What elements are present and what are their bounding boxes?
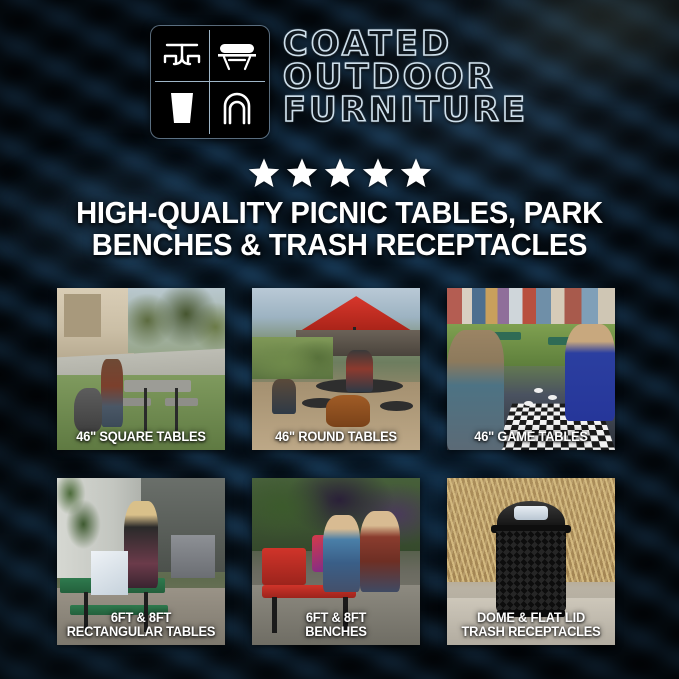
product-tile-round-tables[interactable]: 46" ROUND TABLES: [252, 288, 420, 450]
brand-logo: COATED OUTDOOR FURNITURE: [0, 26, 679, 138]
picnic-table-end-view-icon: [155, 30, 210, 82]
product-photo: [252, 288, 420, 450]
headline-line-2: BENCHES & TRASH RECEPTACLES: [20, 229, 658, 261]
product-grid: 46" SQUARE TABLES 46" ROUND TABLES: [57, 288, 619, 645]
promo-banner: COATED OUTDOOR FURNITURE HIGH-QUALITY PI…: [0, 0, 679, 679]
headline: HIGH-QUALITY PICNIC TABLES, PARK BENCHES…: [20, 197, 658, 261]
product-caption: 6FT & 8FT BENCHES: [256, 611, 416, 639]
banner-content: COATED OUTDOOR FURNITURE HIGH-QUALITY PI…: [0, 0, 679, 679]
star-icon: [286, 157, 318, 189]
product-caption: 6FT & 8FT RECTANGULAR TABLES: [61, 611, 221, 639]
logo-wordmark: COATED OUTDOOR FURNITURE: [283, 26, 528, 127]
arch-bike-rack-icon: [210, 82, 265, 134]
headline-line-1: HIGH-QUALITY PICNIC TABLES, PARK: [76, 195, 603, 230]
trash-receptacle-icon: [155, 82, 210, 134]
bench-side-view-icon: [210, 30, 265, 82]
product-caption: 46" ROUND TABLES: [256, 430, 416, 444]
star-icon: [362, 157, 394, 189]
product-tile-square-tables[interactable]: 46" SQUARE TABLES: [57, 288, 225, 450]
star-icon: [324, 157, 356, 189]
product-caption: DOME & FLAT LID TRASH RECEPTACLES: [451, 611, 611, 639]
product-photo: [447, 288, 615, 450]
star-icon: [400, 157, 432, 189]
product-tile-game-tables[interactable]: 46" GAME TABLES: [447, 288, 615, 450]
logo-word-line3: FURNITURE: [283, 94, 528, 127]
product-tile-rectangular-tables[interactable]: 6FT & 8FT RECTANGULAR TABLES: [57, 478, 225, 645]
product-caption: 46" GAME TABLES: [451, 430, 611, 444]
product-caption: 46" SQUARE TABLES: [61, 430, 221, 444]
product-tile-trash-receptacles[interactable]: DOME & FLAT LID TRASH RECEPTACLES: [447, 478, 615, 645]
star-rating: [0, 157, 679, 189]
product-photo: [57, 288, 225, 450]
product-tile-benches[interactable]: 6FT & 8FT BENCHES: [252, 478, 420, 645]
logo-icon-box: [151, 26, 269, 138]
logo-word-line2: OUTDOOR: [283, 61, 528, 94]
star-icon: [248, 157, 280, 189]
